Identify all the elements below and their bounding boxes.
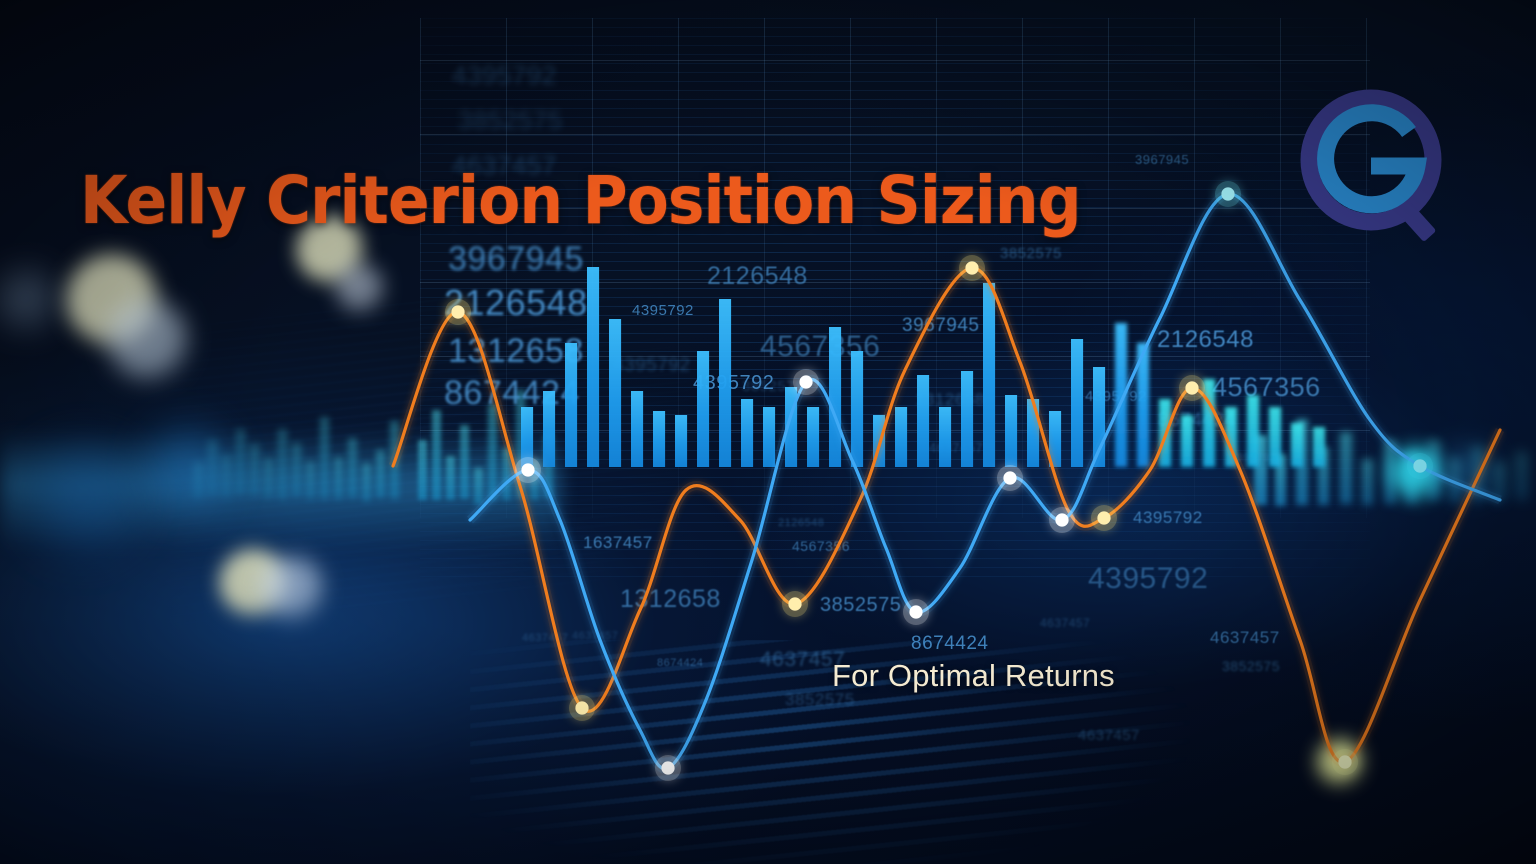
banner-canvas: 4395792385257546374573967945212654813126… — [0, 0, 1536, 864]
vignette-overlay — [0, 0, 1536, 864]
